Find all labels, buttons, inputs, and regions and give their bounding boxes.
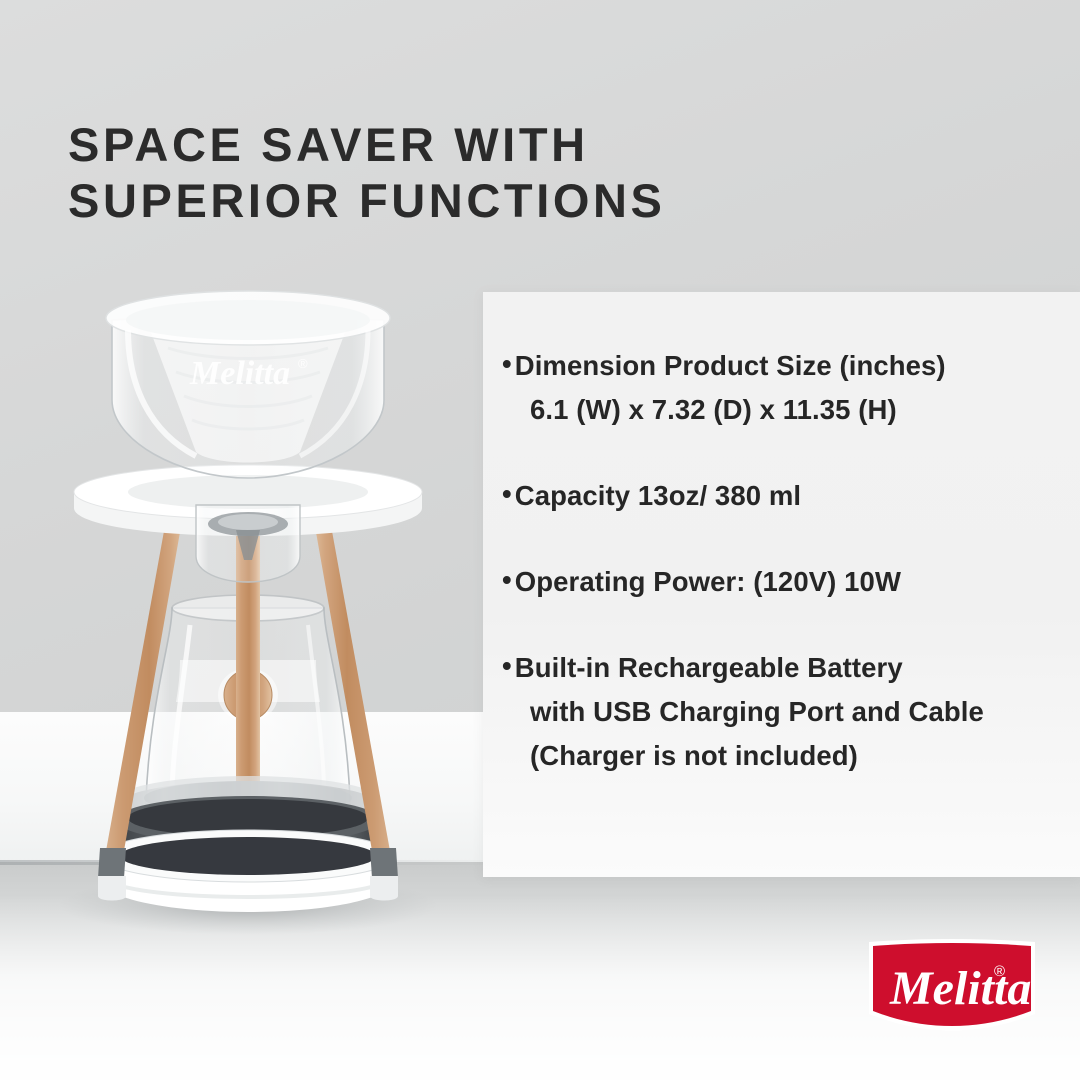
- melitta-logo: Melitta ®: [866, 936, 1038, 1036]
- registered-mark-icon: ®: [994, 963, 1005, 980]
- bullet-icon: •: [502, 564, 512, 595]
- spec-line: •Dimension Product Size (inches): [517, 344, 1062, 388]
- svg-text:®: ®: [298, 356, 308, 371]
- spec-line: •Built-in Rechargeable Battery: [517, 646, 1062, 690]
- spec-line: •Capacity 13oz/ 380 ml: [517, 474, 1062, 518]
- spec-item-dimension: •Dimension Product Size (inches) 6.1 (W)…: [517, 344, 1062, 432]
- spec-item-operating-power: •Operating Power: (120V) 10W: [517, 560, 1062, 604]
- spec-panel: •Dimension Product Size (inches) 6.1 (W)…: [483, 292, 1080, 877]
- product-image: Melitta ®: [0, 0, 520, 1080]
- spec-text: Capacity 13oz/ 380 ml: [515, 480, 801, 511]
- logo-wordmark: Melitta: [889, 962, 1031, 1015]
- product-feature-card: SPACE SAVER WITH SUPERIOR FUNCTIONS: [0, 0, 1080, 1080]
- foot-right: [370, 848, 398, 878]
- svg-text:Melitta: Melitta: [189, 355, 290, 392]
- spec-line: •Operating Power: (120V) 10W: [517, 560, 1062, 604]
- spec-list: •Dimension Product Size (inches) 6.1 (W)…: [517, 344, 1062, 778]
- bullet-icon: •: [502, 478, 512, 509]
- spec-item-battery: •Built-in Rechargeable Battery with USB …: [517, 646, 1062, 778]
- spec-line: 6.1 (W) x 7.32 (D) x 11.35 (H): [517, 388, 1062, 432]
- bullet-icon: •: [502, 348, 512, 379]
- spec-line: (Charger is not included): [517, 734, 1062, 778]
- spec-text: Operating Power: (120V) 10W: [515, 566, 901, 597]
- spec-text: Dimension Product Size (inches): [515, 350, 946, 381]
- spec-item-capacity: •Capacity 13oz/ 380 ml: [517, 474, 1062, 518]
- spec-text: Built-in Rechargeable Battery: [515, 652, 903, 683]
- bullet-icon: •: [502, 650, 512, 681]
- spec-line: with USB Charging Port and Cable: [517, 690, 1062, 734]
- foot-left: [98, 848, 126, 878]
